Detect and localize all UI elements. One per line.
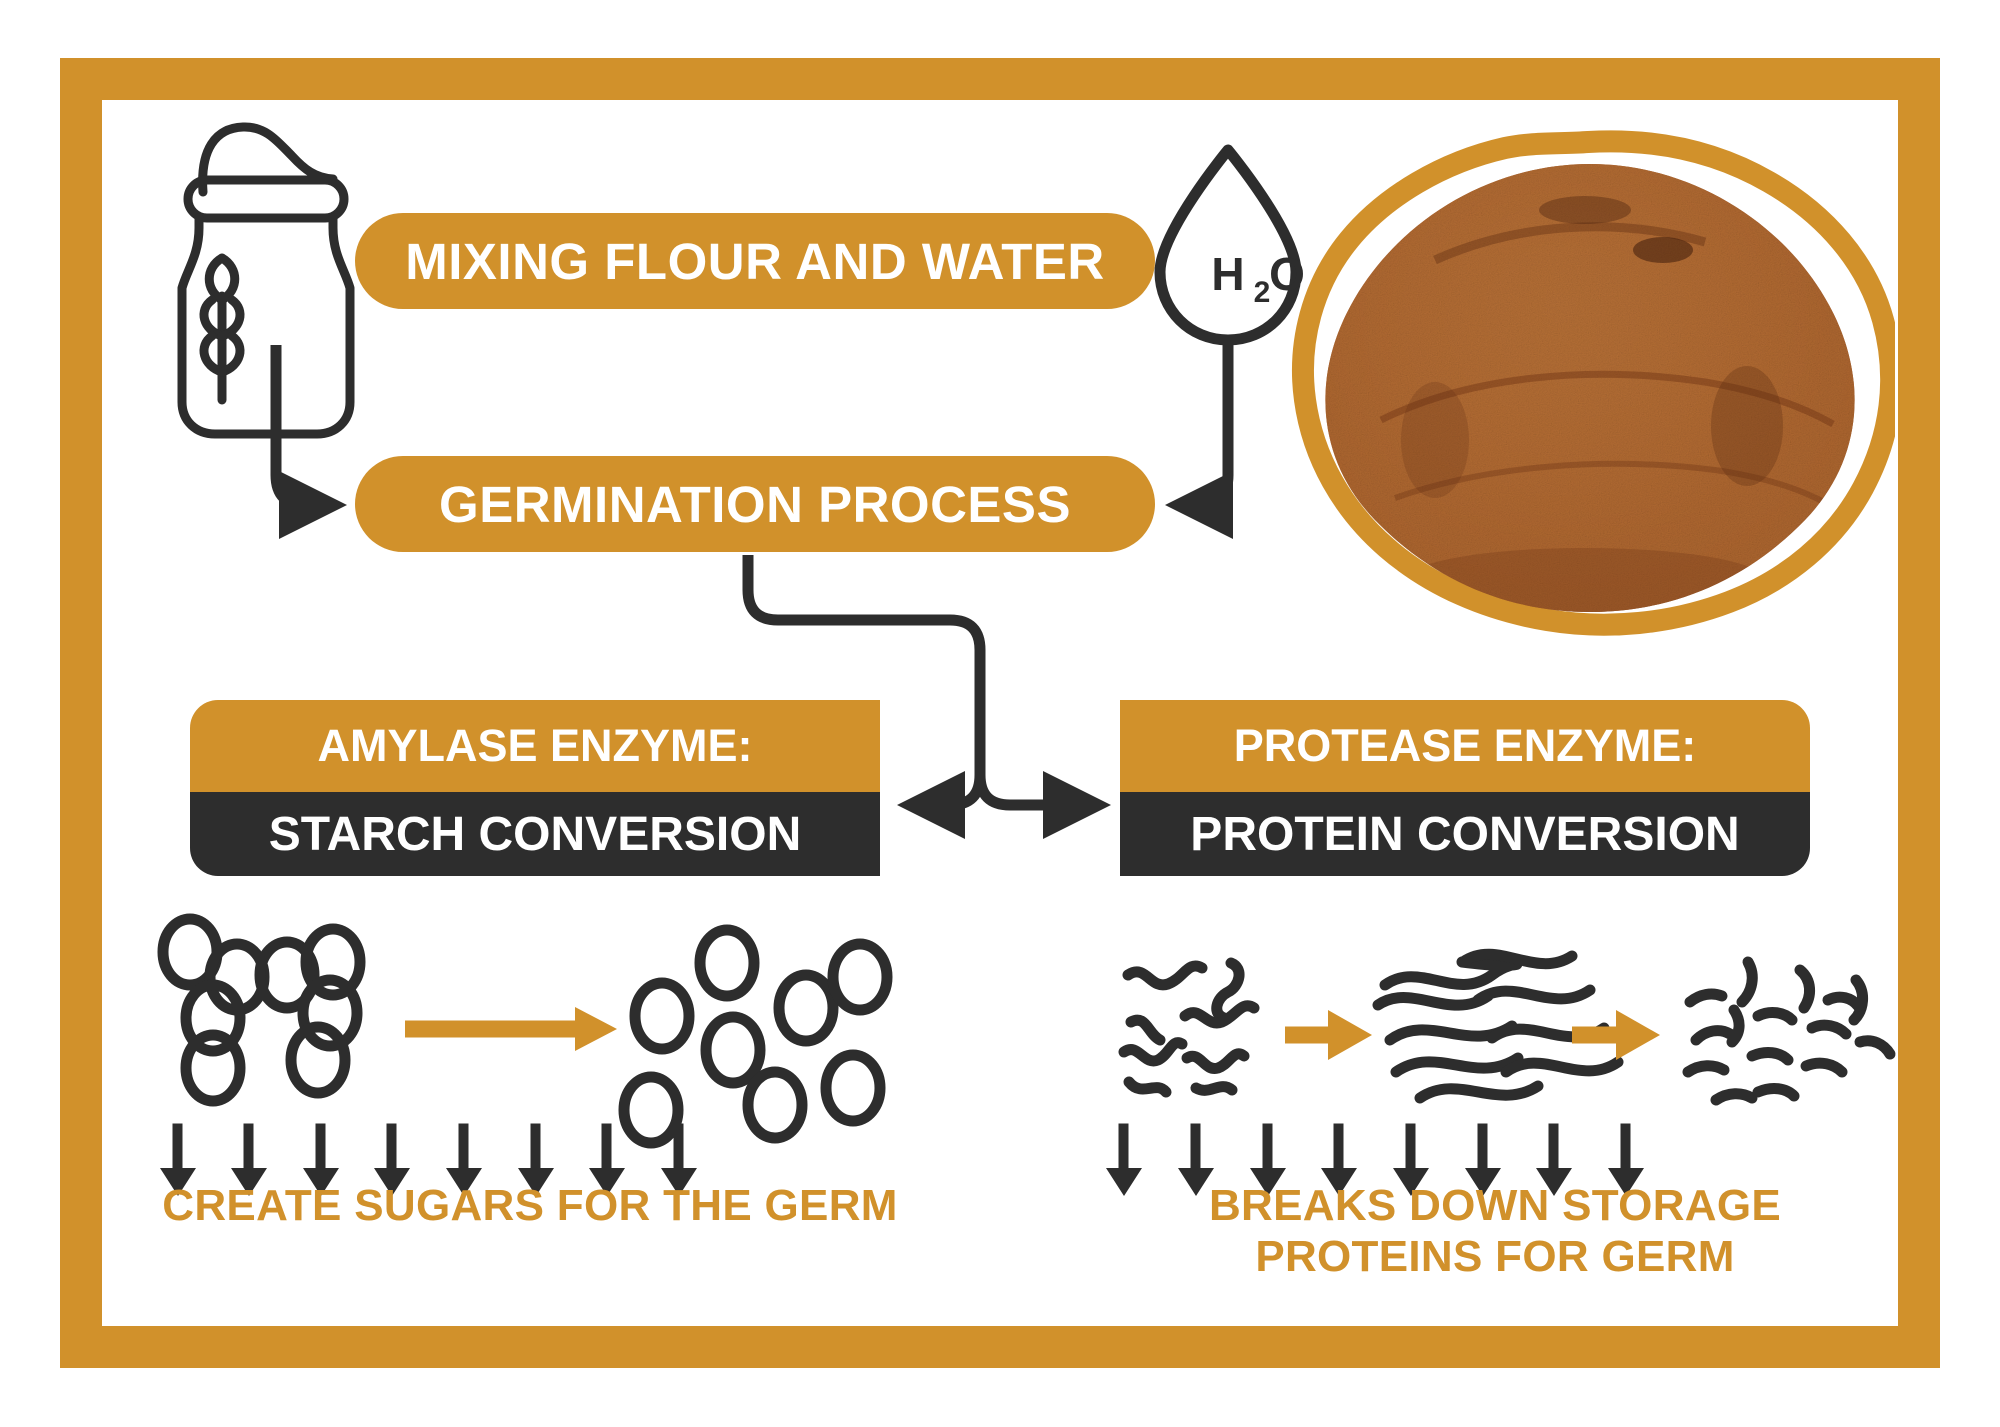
caption-create-sugars: CREATE SUGARS FOR THE GERM: [140, 1180, 920, 1231]
enzyme-card-amylase[interactable]: AMYLASE ENZYME: STARCH CONVERSION: [190, 700, 880, 876]
protease-enzyme-title: PROTEASE ENZYME:: [1120, 700, 1810, 792]
step-mixing-flour-and-water[interactable]: MIXING FLOUR AND WATER: [355, 213, 1155, 309]
bread-loaf-photo: [1285, 120, 1895, 650]
caption-right-line-2: PROTEINS FOR GERM: [1100, 1231, 1890, 1282]
amylase-enzyme-title: AMYLASE ENZYME:: [190, 700, 880, 792]
step-germination-process[interactable]: GERMINATION PROCESS: [355, 456, 1155, 552]
protease-conversion-label: PROTEIN CONVERSION: [1120, 792, 1810, 876]
caption-right-line-1: BREAKS DOWN STORAGE: [1100, 1180, 1890, 1231]
enzyme-card-protease[interactable]: PROTEASE ENZYME: PROTEIN CONVERSION: [1120, 700, 1810, 876]
amylase-conversion-label: STARCH CONVERSION: [190, 792, 880, 876]
infographic-canvas: H 2 O MIXING FLOUR AND WATER GERMINATION…: [0, 0, 2000, 1427]
caption-breaks-down-proteins: BREAKS DOWN STORAGE PROTEINS FOR GERM: [1100, 1180, 1890, 1283]
